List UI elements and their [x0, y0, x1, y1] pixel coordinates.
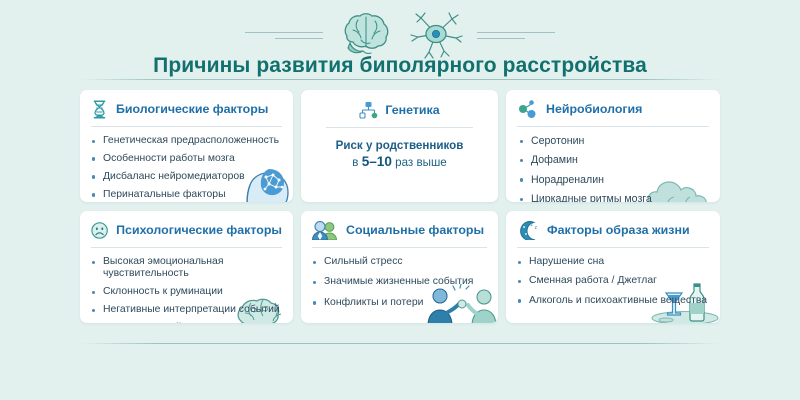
genetics-line-1: Риск у родственников	[312, 138, 487, 154]
header-underline	[91, 247, 282, 248]
list-item: Нарушение сна	[517, 256, 709, 268]
sad-face-icon	[91, 221, 108, 240]
header-underline	[91, 126, 282, 127]
family-tree-icon	[359, 101, 378, 120]
card-header: Биологические факторы	[91, 99, 282, 119]
card-social[interactable]: Социальные факторы Сильный стресс Значим…	[301, 211, 498, 323]
card-biological[interactable]: Биологические факторы Генетическая предр…	[80, 90, 293, 202]
genetics-value: 5–10	[362, 154, 392, 169]
card-title: Социальные факторы	[346, 223, 484, 237]
card-title: Нейробиология	[546, 102, 642, 116]
list-item: Конфликты и потери	[312, 297, 487, 309]
card-lifestyle[interactable]: zz Факторы образа жизни Нарушение сна См…	[506, 211, 720, 323]
genetics-suffix: раз выше	[392, 156, 447, 169]
bullet-list: Нарушение сна Сменная работа / Джетлаг А…	[517, 256, 709, 307]
dna-icon	[91, 100, 108, 119]
list-item: Дофамин	[517, 154, 709, 166]
list-item: Склонность к руминации	[91, 286, 282, 298]
cards-grid: Биологические факторы Генетическая предр…	[80, 90, 720, 323]
list-item: Циркадные ритмы мозга	[517, 193, 709, 202]
header-underline	[326, 127, 473, 128]
card-neuro[interactable]: Нейробиология Серотонин Дофамин Норадрен…	[506, 90, 720, 202]
svg-text:z: z	[535, 225, 538, 231]
card-title: Генетика	[385, 103, 439, 117]
list-item: Серотонин	[517, 135, 709, 147]
moon-icon: zz	[517, 220, 539, 240]
molecule-icon	[517, 100, 538, 118]
card-psychological[interactable]: Психологические факторы Высокая эмоциона…	[80, 211, 293, 323]
list-item: Высокая эмоциональная чувствительность	[91, 256, 282, 281]
page-title: Причины развития биполярного расстройств…	[0, 54, 800, 78]
bullet-list: Высокая эмоциональная чувствительность С…	[91, 256, 282, 323]
header-underline	[517, 126, 709, 127]
list-item: Негативные интерпретации событий	[91, 304, 282, 316]
list-item: Сменная работа / Джетлаг	[517, 275, 709, 287]
card-header: Социальные факторы	[312, 220, 487, 240]
header-underline	[312, 247, 487, 248]
card-header: Нейробиология	[517, 99, 709, 119]
list-item: Генетическая предрасположенность	[91, 135, 282, 147]
list-item: Алкоголь и психоактивные вещества	[517, 295, 709, 307]
list-item: Сильный стресс	[312, 256, 487, 268]
card-title: Факторы образа жизни	[547, 223, 690, 237]
bullet-list: Генетическая предрасположенность Особенн…	[91, 135, 282, 201]
header-underline	[517, 247, 709, 248]
divider-top	[80, 79, 720, 80]
list-item: Перинатальные факторы	[91, 189, 282, 201]
neuron-icon	[407, 10, 465, 60]
divider-bottom	[80, 343, 720, 344]
infographic-canvas: Причины развития биполярного расстройств…	[0, 0, 800, 400]
hero-icons	[335, 10, 465, 60]
brain-icon	[335, 10, 397, 60]
bullet-list: Сильный стресс Значимые жизненные событи…	[312, 256, 487, 309]
hero-rule-right	[477, 32, 555, 39]
card-title: Биологические факторы	[116, 102, 268, 116]
list-item: Травматический опыт	[91, 322, 282, 323]
card-header: zz Факторы образа жизни	[517, 220, 709, 240]
list-item: Дисбаланс нейромедиаторов	[91, 171, 282, 183]
list-item: Особенности работы мозга	[91, 153, 282, 165]
bullet-list: Серотонин Дофамин Норадреналин Циркадные…	[517, 135, 709, 202]
hero-rule-left	[245, 32, 323, 39]
genetics-prefix: в	[352, 156, 361, 169]
card-genetics[interactable]: Генетика Риск у родственников в 5–10 раз…	[301, 90, 498, 202]
genetics-statement: Риск у родственников в 5–10 раз выше	[312, 138, 487, 171]
card-header: Психологические факторы	[91, 220, 282, 240]
two-people-icon	[312, 221, 338, 240]
genetics-line-2: в 5–10 раз выше	[312, 154, 487, 171]
list-item: Норадреналин	[517, 174, 709, 186]
card-header: Генетика	[312, 100, 487, 120]
list-item: Значимые жизненные события	[312, 276, 487, 288]
card-title: Психологические факторы	[116, 223, 282, 237]
